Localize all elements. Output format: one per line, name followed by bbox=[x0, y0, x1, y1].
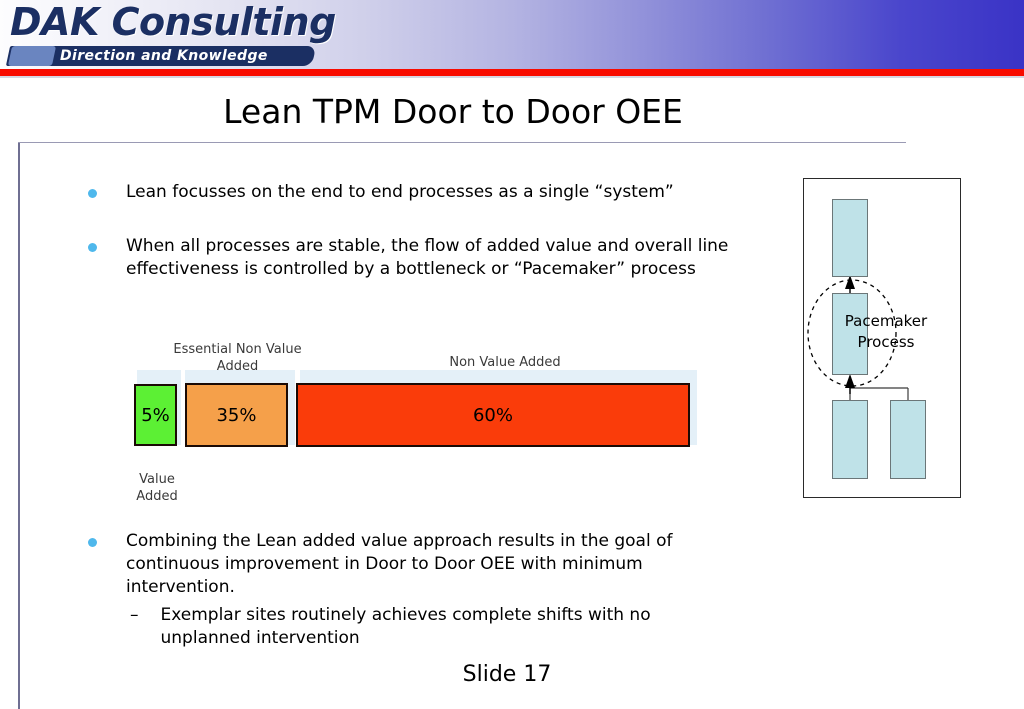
flow-arrowhead-pacemaker-to-top bbox=[845, 275, 855, 289]
chart-segment-non-value-added: 60% bbox=[296, 383, 690, 447]
bullet-text: When all processes are stable, the flow … bbox=[126, 235, 758, 281]
chart-label-essential-non-value-added: Essential Non Value Added bbox=[160, 341, 315, 375]
bullet-text: Combining the Lean added value approach … bbox=[126, 530, 748, 599]
bullet-dot-icon bbox=[88, 243, 97, 252]
pacemaker-annotation-line1: Pacemaker bbox=[826, 311, 946, 332]
chart-segment-essential-non-value-added: 35% bbox=[185, 383, 288, 447]
dak-consulting-logo: DAK Consulting Direction and Knowledge bbox=[6, 2, 316, 68]
sub-bullet-text: Exemplar sites routinely achieves comple… bbox=[161, 604, 731, 650]
chart-segment-value-added: 5% bbox=[134, 384, 177, 446]
pacemaker-annotation: Pacemaker Process bbox=[826, 311, 946, 353]
process-box-top bbox=[832, 199, 868, 277]
process-box-bottom-right bbox=[890, 400, 926, 479]
logo-tagline-bar-tab bbox=[8, 46, 56, 66]
logo-tagline: Direction and Knowledge bbox=[60, 48, 268, 64]
bullet-item: Lean focusses on the end to end processe… bbox=[88, 181, 768, 204]
bullet-text: Lean focusses on the end to end processe… bbox=[126, 181, 674, 204]
bullet-dot-icon bbox=[88, 538, 97, 547]
bullet-dot-icon bbox=[88, 189, 97, 198]
pacemaker-process-diagram: Pacemaker Process bbox=[803, 178, 961, 498]
chart-label-value-added: Value Added bbox=[124, 471, 190, 505]
title-divider bbox=[18, 142, 906, 143]
header-stripe-shadow bbox=[0, 76, 1024, 78]
bullet-item: Combining the Lean added value approach … bbox=[88, 530, 748, 599]
chart-label-non-value-added: Non Value Added bbox=[420, 354, 590, 371]
sub-bullet-item: – Exemplar sites routinely achieves comp… bbox=[130, 604, 730, 650]
page-title: Lean TPM Door to Door OEE bbox=[0, 92, 906, 131]
chart-segment-value: 60% bbox=[473, 405, 513, 426]
bullet-item: When all processes are stable, the flow … bbox=[88, 235, 758, 281]
header-red-stripe bbox=[0, 69, 1024, 76]
process-box-bottom-left bbox=[832, 400, 868, 479]
sub-bullet-dash-icon: – bbox=[130, 604, 139, 627]
chart-segment-value: 35% bbox=[216, 405, 256, 426]
slide-number: Slide 17 bbox=[0, 662, 1014, 687]
pacemaker-annotation-line2: Process bbox=[826, 332, 946, 353]
chart-segment-value: 5% bbox=[141, 405, 170, 426]
content-frame-border bbox=[18, 143, 20, 709]
logo-wordmark: DAK Consulting bbox=[10, 0, 336, 44]
header-banner: DAK Consulting Direction and Knowledge bbox=[0, 0, 1024, 69]
